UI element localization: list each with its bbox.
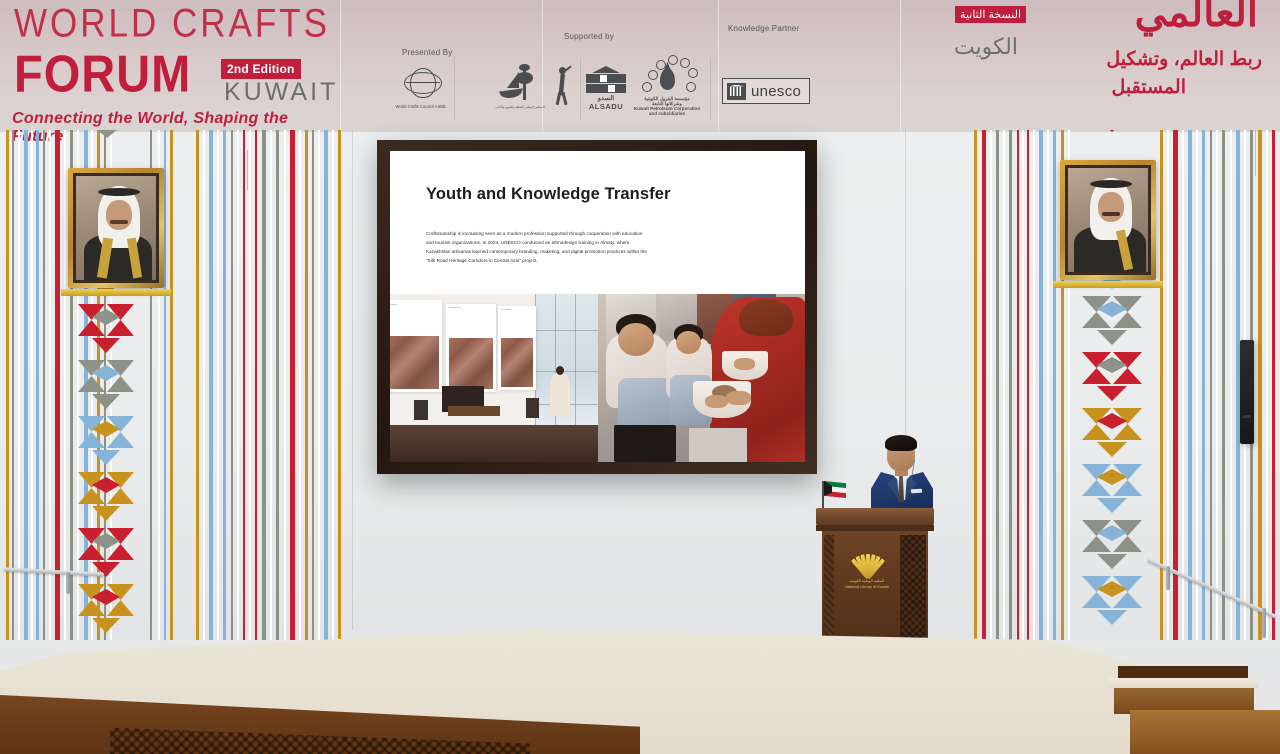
knc-logo-caption: المجلس الوطني للثقافة والفنون والآداب (488, 106, 552, 110)
label-presented-by: Presented By (402, 48, 452, 57)
sadu-motif (78, 376, 105, 392)
sadu-stripe (1167, 130, 1169, 640)
sadu-stripe (164, 130, 166, 640)
sadu-stripe (1230, 130, 1232, 640)
sadu-stripe (1173, 130, 1178, 640)
auditorium-scene: WORLD CRAFTS FORUM 2nd Edition KUWAIT Co… (0, 0, 1280, 754)
logo-line-forum: FORUM (14, 43, 191, 104)
sadu-stripe (1258, 130, 1262, 640)
sadu-motif (1082, 592, 1111, 608)
sponsor-divider (580, 58, 581, 120)
arabic-logo-line1: العالمي (1135, 0, 1258, 36)
sadu-stripe (262, 130, 266, 640)
sadu-stripe (276, 130, 279, 640)
sadu-stripe (31, 130, 33, 640)
sadu-motif (1097, 498, 1127, 513)
world-crafts-council-logo (404, 66, 442, 100)
sadu-motif (1097, 330, 1127, 345)
sponsor-divider (710, 58, 711, 120)
kuwait-petroleum-corporation-logo: مؤسسة البترول الكويتية وشركاتها التابعة … (630, 56, 704, 114)
slide-body-text: Craftsmanship is increasing seen as a mo… (426, 230, 648, 266)
sadu-stripe (1022, 130, 1024, 640)
sadu-stripe (305, 130, 308, 640)
sadu-motif (78, 320, 105, 336)
sadu-stripe (231, 130, 233, 640)
sadu-motif (1097, 386, 1127, 401)
stage-steps-right (1090, 634, 1280, 754)
sadu-stripe (36, 130, 39, 640)
slide-title: Youth and Knowledge Transfer (426, 185, 671, 204)
sadu-stripe (1039, 130, 1043, 640)
sadu-stripe (332, 130, 334, 640)
sadu-stripe (996, 130, 999, 640)
handrail-post-right-2 (1262, 608, 1266, 638)
unesco-wordmark: unesco (751, 83, 801, 100)
arabic-edition-badge: النسخة الثانية (955, 6, 1026, 23)
sadu-stripe (318, 130, 320, 640)
sadu-stripe (49, 130, 51, 640)
sadu-motif (1113, 592, 1142, 608)
sadu-motif (78, 600, 105, 616)
podium-logo-text-english: National Library of Kuwait (840, 585, 894, 589)
sadu-motif (1113, 424, 1142, 440)
sadu-stripe (290, 130, 295, 640)
sadu-stripe (1053, 130, 1056, 640)
sadu-stripe (1003, 130, 1005, 640)
presentation-screen[interactable]: Youth and Knowledge Transfer Craftsmansh… (377, 140, 817, 474)
national-library-of-kuwait-logo: المكتبة الوطنية الكويتية National Librar… (840, 552, 894, 598)
sadu-motif (1082, 424, 1111, 440)
sadu-stripe (209, 130, 213, 640)
sadu-pattern-panel-left (0, 130, 352, 640)
label-supported-by: Supported by (564, 32, 614, 41)
unesco-logo: unesco (722, 78, 810, 104)
sadu-stripe (1188, 130, 1192, 640)
logo-city-kuwait: KUWAIT (224, 78, 338, 107)
arabic-city-kuwait: الكويت (954, 34, 1018, 60)
sadu-stripe (974, 130, 977, 640)
handrail-post-left (66, 572, 70, 594)
sadu-stripe (1272, 130, 1275, 640)
kuwait-national-council-logo (497, 64, 543, 106)
exhibition-gallery-photo: Rock art panel Heritage site Central Asi… (390, 294, 598, 462)
sadu-stripe (170, 130, 173, 640)
sadu-stripe (1202, 130, 1205, 640)
slide-image-row: Rock art panel Heritage site Central Asi… (390, 294, 805, 462)
sadu-stripe (255, 130, 257, 640)
world-crafts-forum-logo-arabic: العالمي النسخة الثانية الكويت ربط العالم… (896, 0, 1276, 122)
sadu-stripe (203, 130, 205, 640)
sadu-stripe (196, 130, 199, 640)
sadu-motif (1096, 130, 1128, 132)
library-fan-icon (852, 552, 882, 578)
sadu-stripe (1017, 130, 1019, 640)
sadu-stripe (982, 130, 986, 640)
sadu-motif (78, 544, 105, 560)
portrait-frame-right (1060, 160, 1156, 280)
sadu-stripe (1210, 130, 1212, 640)
wcc-logo-caption: World Crafts Council AiSBL (390, 104, 452, 109)
sponsor-logo-band: Presented By Supported by Knowledge Part… (392, 24, 822, 124)
sadu-stripe (43, 130, 45, 640)
pottery-workshop-photo (598, 294, 806, 462)
sadu-motif (1082, 536, 1111, 552)
banner-seam (340, 0, 341, 132)
ceiling-wire (247, 150, 248, 190)
sadu-motif (1082, 480, 1111, 496)
world-crafts-forum-logo-english: WORLD CRAFTS FORUM 2nd Edition KUWAIT Co… (8, 2, 338, 130)
craft-figure-logo (550, 64, 576, 108)
edition-badge: 2nd Edition (221, 59, 301, 79)
sadu-stripe (237, 130, 239, 640)
sadu-motif (1097, 554, 1127, 569)
sadu-stripe (55, 130, 60, 640)
ceiling-wire (1255, 130, 1256, 176)
arabic-tagline-part1: ربط العالم، وتشكيل (1106, 48, 1262, 71)
portrait-photo-right (1068, 168, 1148, 272)
sadu-stripe (1222, 130, 1225, 640)
sadu-stripe (1033, 130, 1035, 640)
sadu-stripe (338, 130, 341, 640)
sadu-stripe (1182, 130, 1184, 640)
sadu-stripe (217, 130, 219, 640)
sadu-motif (78, 432, 105, 448)
sadu-stripe (284, 130, 286, 640)
sadu-motif (1097, 442, 1127, 457)
sadu-stripe (1216, 130, 1218, 640)
sadu-stripe (249, 130, 251, 640)
sadu-stripe (223, 130, 226, 640)
kuwait-flag (822, 481, 848, 511)
sadu-stripe (1196, 130, 1198, 640)
sadu-motif (1082, 368, 1111, 384)
portrait-photo-left (76, 176, 156, 280)
stage-lattice-detail (110, 714, 530, 754)
portrait-frame-left (68, 168, 164, 288)
unesco-temple-icon (727, 83, 746, 100)
sponsor-divider (454, 58, 455, 120)
podium-logo-text-arabic: المكتبة الوطنية الكويتية (840, 579, 894, 583)
alsadu-caption-arabic: السدو (582, 94, 630, 102)
alsadu-caption-english: ALSADU (582, 102, 630, 111)
sadu-stripe (1047, 130, 1049, 640)
sadu-stripe (24, 130, 28, 640)
sadu-motif (1113, 480, 1142, 496)
slide-content: Youth and Knowledge Transfer Craftsmansh… (390, 151, 805, 462)
arabic-tagline-part2: المستقبل (1112, 76, 1186, 99)
sadu-motif (1113, 536, 1142, 552)
sadu-motif (78, 488, 105, 504)
sadu-motif (1082, 312, 1111, 328)
line-array-speaker-right (1240, 340, 1254, 444)
sadu-stripe (299, 130, 301, 640)
wall-seam (352, 130, 353, 630)
sadu-motif (1097, 610, 1127, 625)
sadu-stripe (324, 130, 328, 640)
sadu-stripe (1266, 130, 1268, 640)
sadu-stripe (243, 130, 245, 640)
sadu-stripe (312, 130, 314, 640)
sadu-stripe (990, 130, 992, 640)
sadu-stripe (270, 130, 272, 640)
alsadu-logo: السدو ALSADU (582, 64, 630, 114)
kpc-caption-english-sub: and subsidiaries (630, 111, 704, 117)
sadu-stripe (1027, 130, 1029, 640)
label-knowledge-partner: Knowledge Partner (728, 24, 799, 33)
sadu-stripe (64, 130, 66, 640)
sadu-motif (1113, 368, 1142, 384)
sadu-motif (90, 130, 124, 138)
handrail-post-right (1166, 566, 1170, 590)
sadu-stripe (1009, 130, 1012, 640)
logo-line-world-crafts: WORLD CRAFTS (14, 1, 330, 47)
sadu-motif (1113, 312, 1142, 328)
